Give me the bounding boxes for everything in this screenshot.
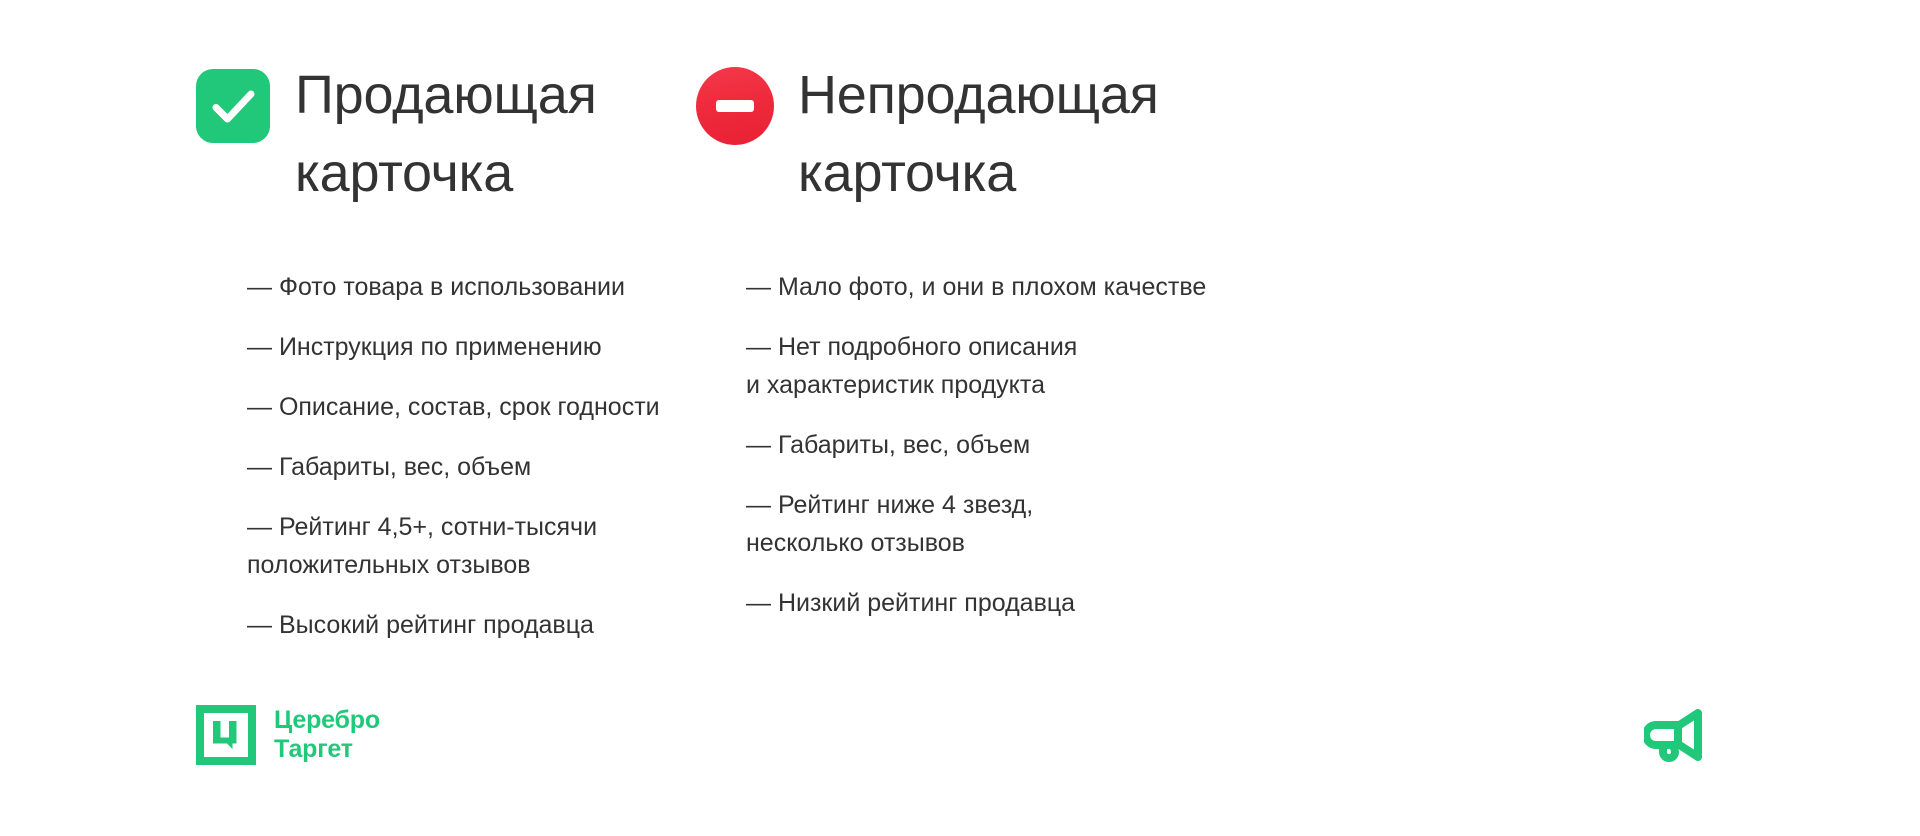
megaphone-icon <box>1644 705 1718 767</box>
list-item: — Низкий рейтинг продавца <box>746 584 1306 622</box>
list-item: — Описание, состав, срок годности <box>247 388 660 426</box>
list-item: — Рейтинг ниже 4 звезд, несколько отзыво… <box>746 486 1306 562</box>
selling-card-heading: Продающая карточка <box>196 56 660 213</box>
list-item: — Нет подробного описания и характеристи… <box>746 328 1306 404</box>
list-item: — Фото товара в использовании <box>247 268 660 306</box>
list-item: — Габариты, вес, объем <box>247 448 660 486</box>
non-selling-card-list: — Мало фото, и они в плохом качестве — Н… <box>746 268 1420 622</box>
list-item: — Инструкция по применению <box>247 328 660 366</box>
list-item: — Рейтинг 4,5+, сотни-тысячи положительн… <box>247 508 660 584</box>
list-item: — Высокий рейтинг продавца <box>247 606 660 644</box>
brand-logo: Церебро Таргет <box>196 705 380 765</box>
slide-root: Продающая карточка — Фото товара в испол… <box>0 0 1920 836</box>
comparison-columns: Продающая карточка — Фото товара в испол… <box>0 0 1920 644</box>
column-non-selling-card: Непродающая карточка — Мало фото, и они … <box>660 0 1420 644</box>
minus-bar <box>716 100 754 112</box>
cerebro-logo-icon <box>196 705 256 765</box>
non-selling-card-title: Непродающая карточка <box>798 56 1268 213</box>
brand-logo-line1: Церебро <box>274 706 380 736</box>
cerebro-logo-inner <box>204 713 248 757</box>
brand-logo-wordmark: Церебро Таргет <box>274 706 380 765</box>
list-item: — Габариты, вес, объем <box>746 426 1306 464</box>
minus-badge-icon <box>696 67 774 145</box>
selling-card-list: — Фото товара в использовании — Инструкц… <box>247 268 660 644</box>
column-selling-card: Продающая карточка — Фото товара в испол… <box>0 0 660 644</box>
selling-card-title: Продающая карточка <box>295 56 660 213</box>
non-selling-card-heading: Непродающая карточка <box>696 56 1420 213</box>
brand-logo-line2: Таргет <box>274 735 380 765</box>
check-badge-icon <box>196 69 270 143</box>
list-item: — Мало фото, и они в плохом качестве <box>746 268 1306 306</box>
tse-letter-icon <box>211 719 241 751</box>
